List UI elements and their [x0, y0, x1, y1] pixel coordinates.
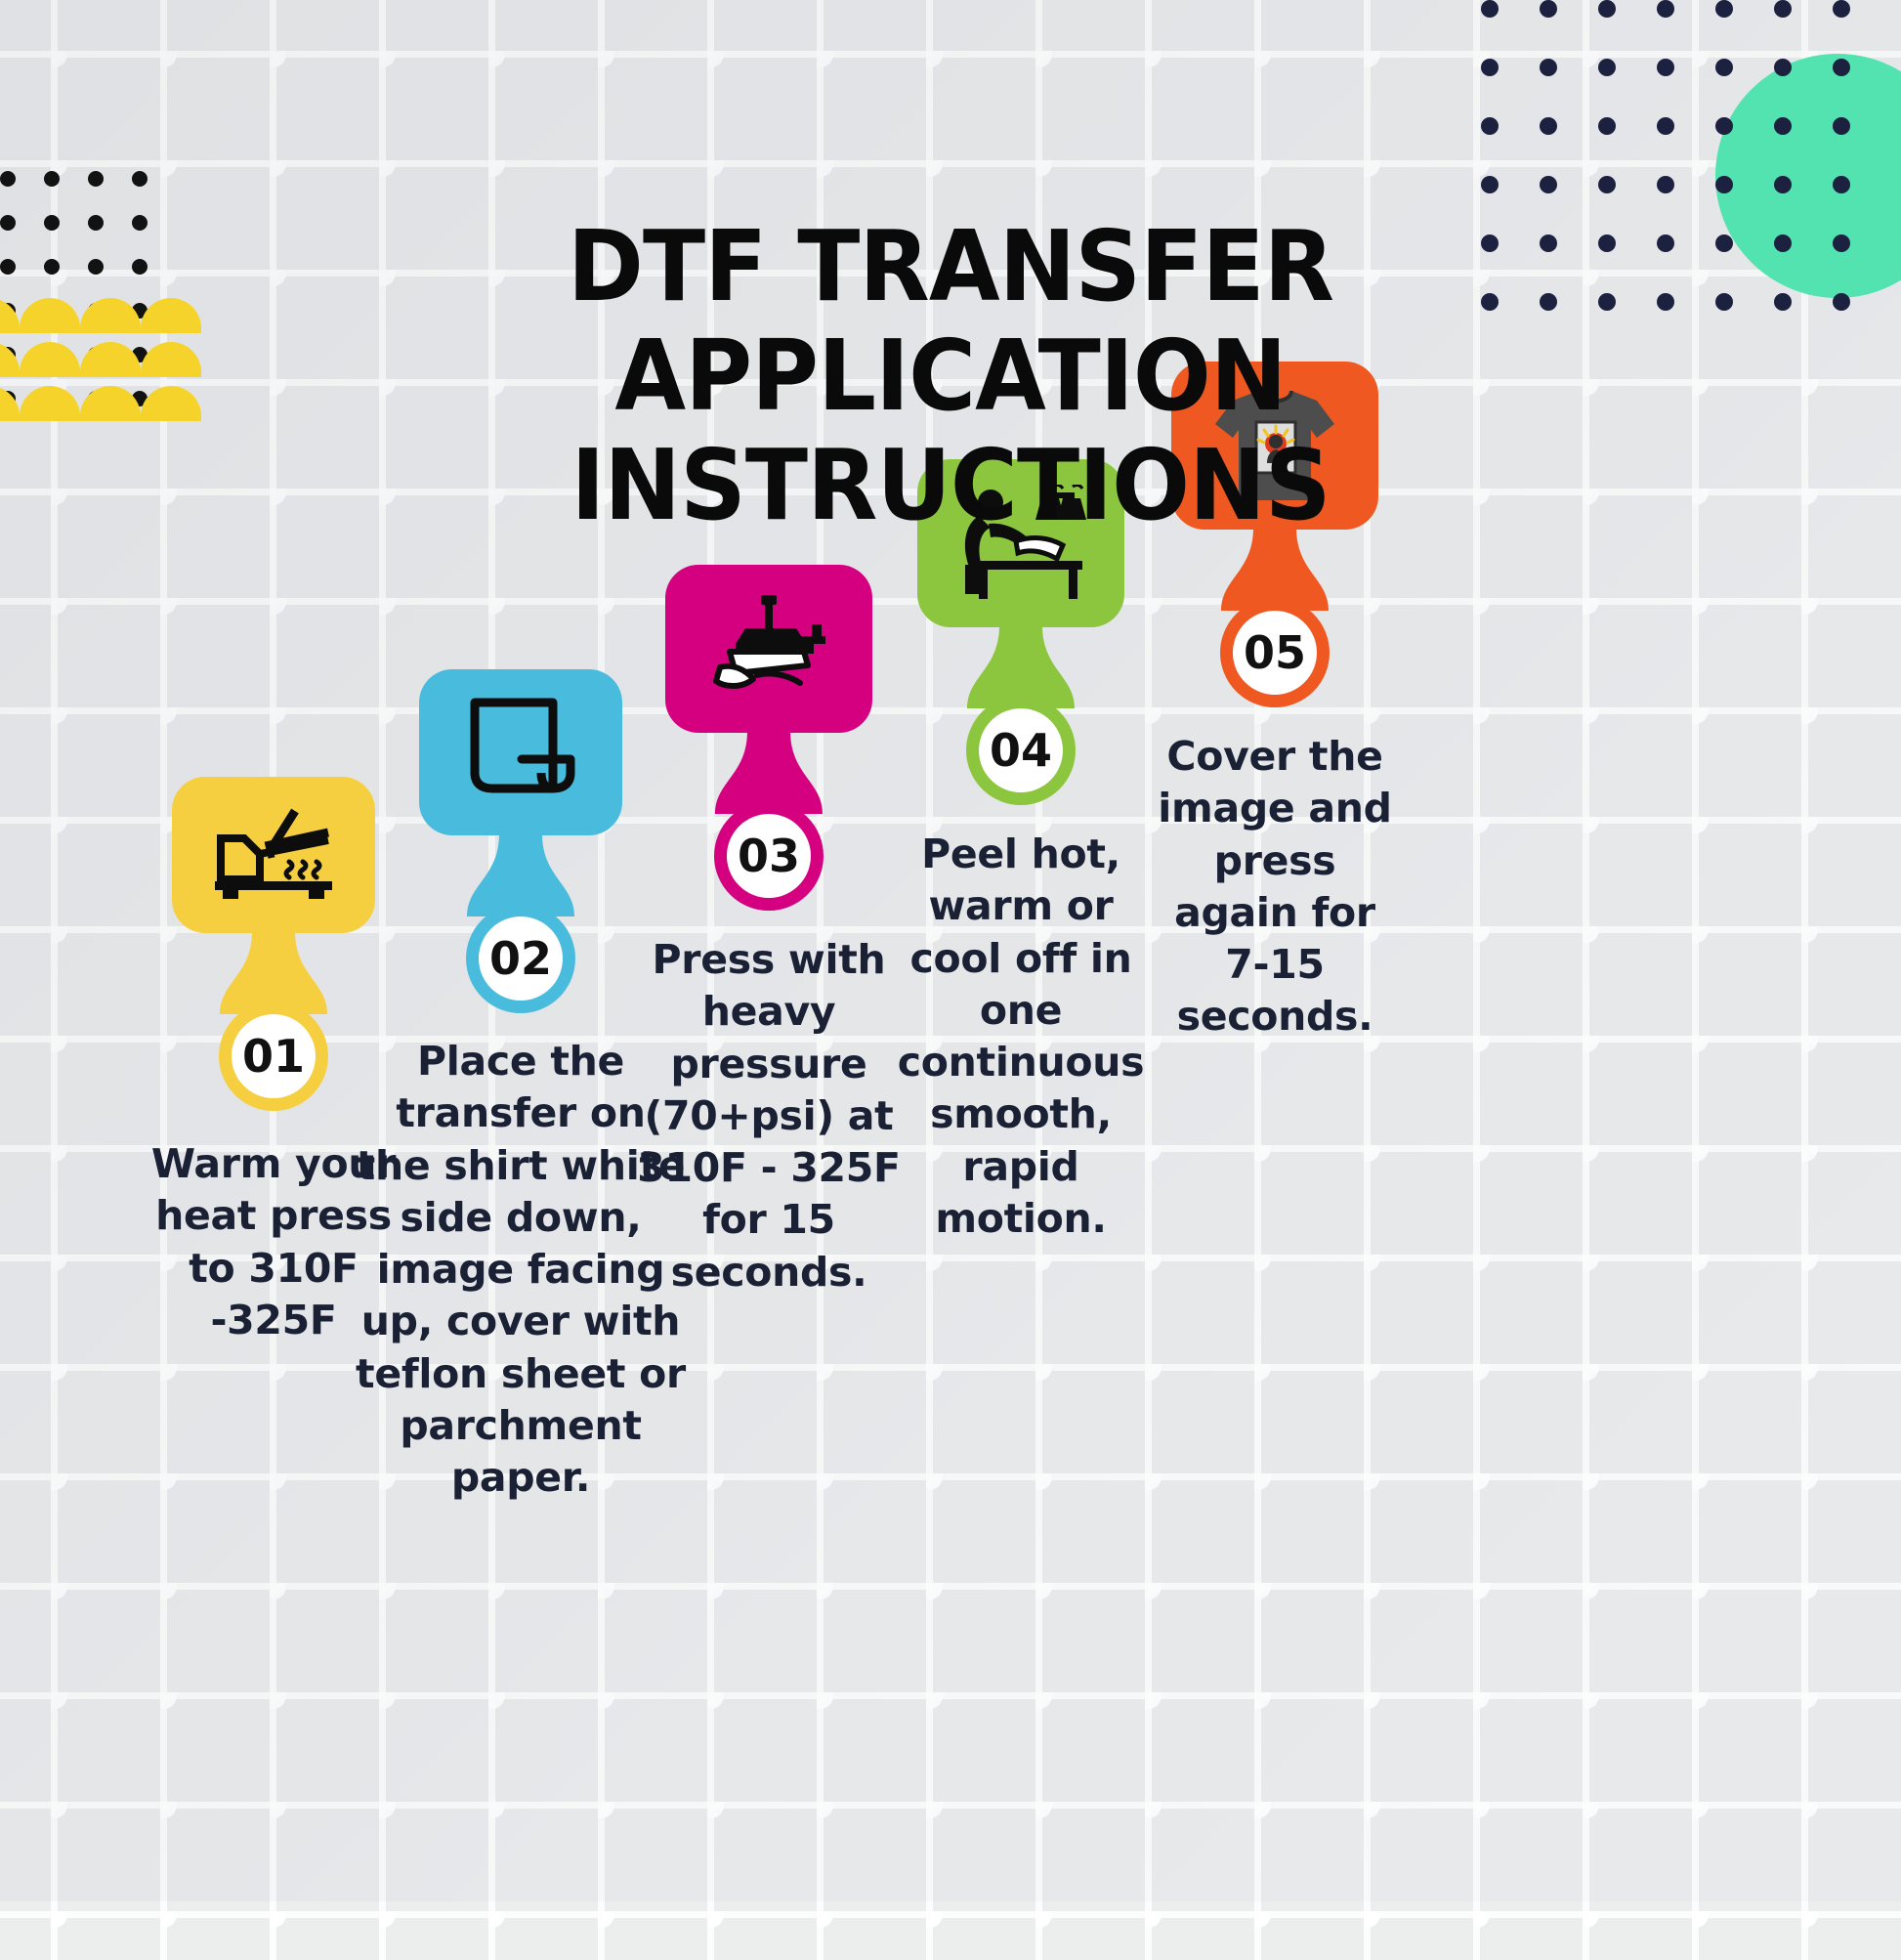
page-title-line-1: DTF TRANSFER APPLICATION: [240, 212, 1660, 431]
step-05-number: 05: [1244, 626, 1306, 679]
step-03-number: 03: [738, 830, 800, 882]
step-04-number-badge[interactable]: 04: [966, 696, 1076, 805]
page-title: DTF TRANSFER APPLICATION INSTRUCTIONS: [57, 212, 1843, 540]
step-02-number: 02: [489, 932, 552, 985]
step-04-number: 04: [990, 724, 1052, 777]
step-05-caption: Cover the image and press again for 7-15…: [1079, 731, 1470, 1044]
step-03-number-badge[interactable]: 03: [714, 801, 824, 911]
page-title-line-2: INSTRUCTIONS: [240, 431, 1660, 540]
step-05-number-badge[interactable]: 05: [1220, 598, 1330, 707]
